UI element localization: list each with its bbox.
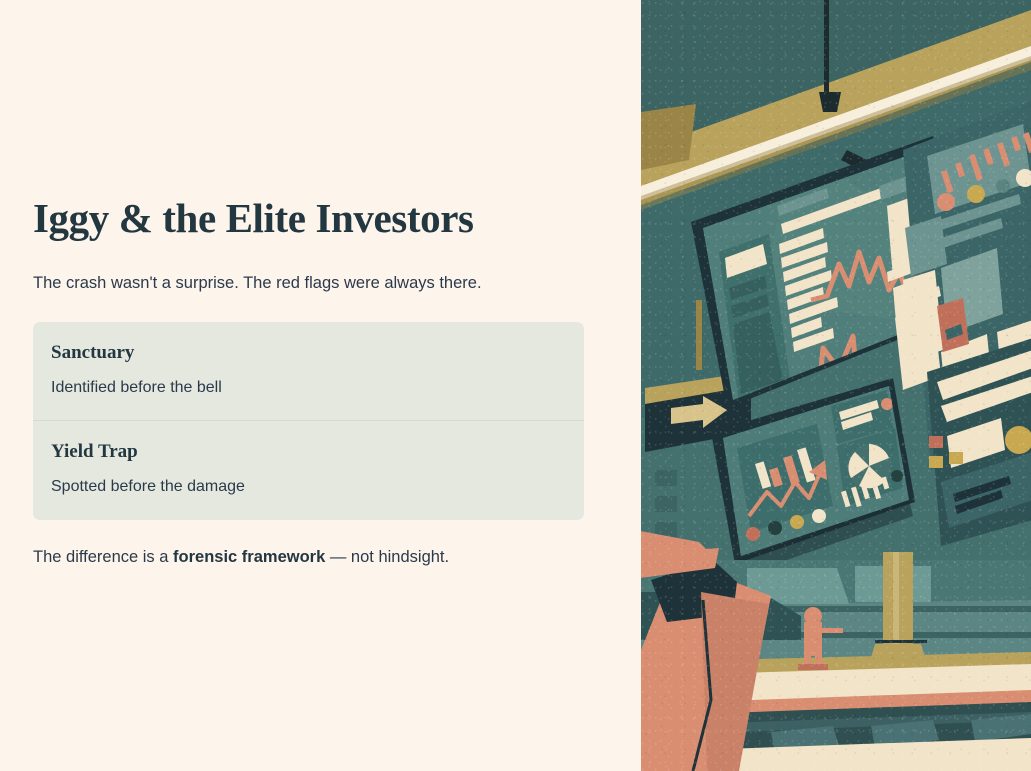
column-highlight [893, 552, 899, 644]
control-square [929, 456, 943, 468]
control-square [949, 452, 963, 464]
status-dot-gold [967, 185, 985, 203]
closing-suffix: — not hindsight. [325, 548, 449, 566]
wall-tile [655, 470, 677, 486]
list-item[interactable]: Sanctuary Identified before the bell [33, 322, 584, 421]
sign-pole [696, 300, 702, 370]
status-dot-teal [996, 179, 1010, 193]
ceiling-rod [824, 0, 829, 96]
column-band [875, 640, 927, 643]
closing-prefix: The difference is a [33, 548, 173, 566]
station-illustration [641, 0, 1031, 771]
highlights-card: Sanctuary Identified before the bell Yie… [33, 322, 584, 520]
monitor-dot [881, 398, 893, 410]
indicator-dot [768, 521, 782, 535]
indicator-dot [746, 527, 760, 541]
page-title: Iggy & the Elite Investors [33, 196, 584, 242]
list-item-description: Spotted before the damage [51, 477, 566, 498]
indicator-dot [812, 509, 826, 523]
closing-emphasis: forensic framework [173, 548, 325, 566]
list-item-title: Yield Trap [51, 441, 566, 464]
control-square [929, 436, 943, 448]
beam-bracket [641, 104, 696, 170]
illustration-canvas [641, 0, 1031, 771]
wall-tile [655, 496, 677, 512]
marketing-hero: Iggy & the Elite Investors The crash was… [0, 0, 1031, 771]
page-subtitle: The crash wasn't a surprise. The red fla… [33, 272, 584, 296]
indicator-dot [891, 470, 903, 482]
text-panel: Iggy & the Elite Investors The crash was… [0, 0, 641, 771]
text-content: Iggy & the Elite Investors The crash was… [33, 196, 584, 586]
list-item-title: Sanctuary [51, 342, 566, 365]
list-item[interactable]: Yield Trap Spotted before the damage [33, 420, 584, 520]
indicator-dot [790, 515, 804, 529]
status-dot-salmon [937, 193, 955, 211]
closing-statement: The difference is a forensic framework —… [33, 546, 584, 570]
list-item-description: Identified before the bell [51, 378, 566, 399]
